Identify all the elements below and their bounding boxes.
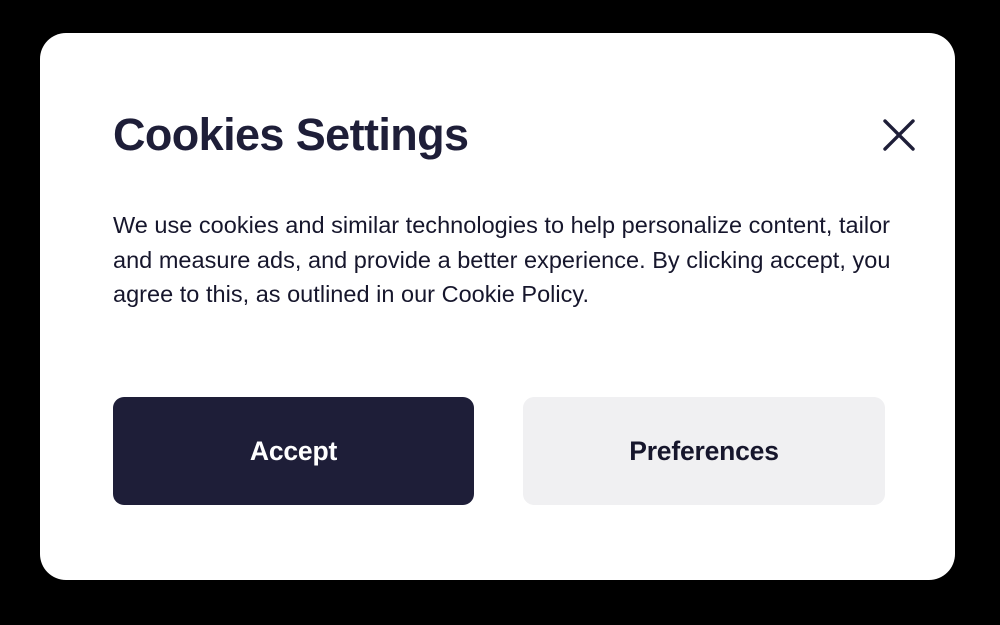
dialog-header: Cookies Settings (113, 105, 923, 177)
dialog-actions: Accept Preferences (113, 397, 885, 505)
dialog-description: We use cookies and similar technologies … (113, 208, 903, 312)
cookies-settings-dialog: Cookies Settings We use cookies and simi… (40, 33, 955, 580)
page-title: Cookies Settings (113, 105, 468, 165)
accept-button[interactable]: Accept (113, 397, 474, 505)
preferences-button[interactable]: Preferences (523, 397, 885, 505)
screen-background: Cookies Settings We use cookies and simi… (0, 0, 1000, 625)
close-icon (880, 116, 918, 154)
close-button[interactable] (875, 111, 923, 159)
